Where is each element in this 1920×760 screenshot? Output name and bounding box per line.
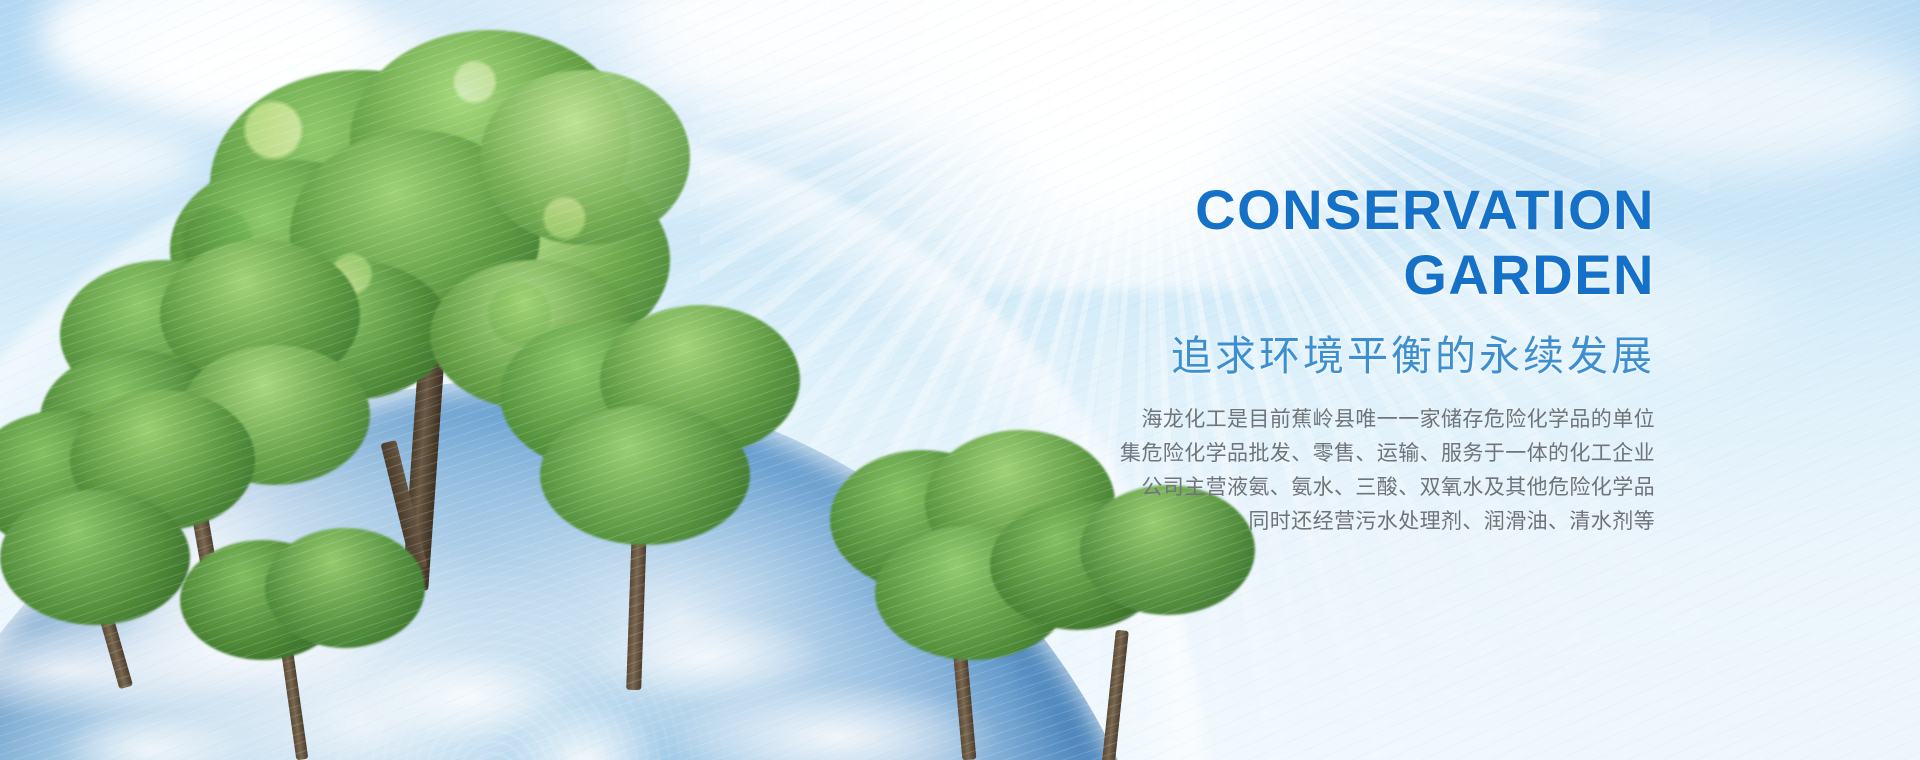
body-copy: 海龙化工是目前蕉岭县唯一一家储存危险化学品的单位 集危险化学品批发、零售、运输、… <box>895 403 1655 539</box>
banner-copy: CONSERVATION GARDEN 追求环境平衡的永续发展 海龙化工是目前蕉… <box>895 178 1655 539</box>
headline-line-2: GARDEN <box>895 243 1655 308</box>
headline-line-1: CONSERVATION <box>1195 178 1655 241</box>
page-title: CONSERVATION GARDEN <box>895 178 1655 308</box>
body-line-1: 海龙化工是目前蕉岭县唯一一家储存危险化学品的单位 <box>895 403 1655 437</box>
body-line-3: 公司主营液氨、氨水、三酸、双氧水及其他危险化学品 <box>895 471 1655 505</box>
subtitle: 追求环境平衡的永续发展 <box>895 332 1655 381</box>
eco-hero-banner: CONSERVATION GARDEN 追求环境平衡的永续发展 海龙化工是目前蕉… <box>0 0 1920 760</box>
body-line-4: 同时还经营污水处理剂、润滑油、清水剂等 <box>895 505 1655 539</box>
body-line-2: 集危险化学品批发、零售、运输、服务于一体的化工企业 <box>895 437 1655 471</box>
